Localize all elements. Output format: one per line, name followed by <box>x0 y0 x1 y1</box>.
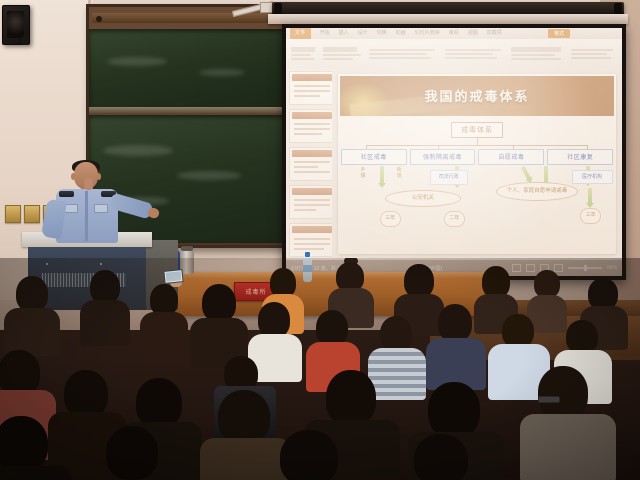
slide-thumbnail[interactable] <box>289 71 335 105</box>
audience <box>0 258 640 480</box>
diagram-ellipse-public-security: 公安机关 <box>385 190 461 207</box>
slide-thumbnail[interactable] <box>289 185 335 219</box>
chalkboard-ledge <box>89 107 287 113</box>
slide-thumbnail[interactable] <box>289 147 335 181</box>
arrow-down-icon <box>380 166 384 184</box>
tab-design[interactable]: 设计 <box>358 29 368 38</box>
speaker-police-officer <box>44 160 164 250</box>
tab-insert[interactable]: 插入 <box>339 29 349 38</box>
powerpoint-window: 文件 开始 插入 设计 切换 动画 幻灯片放映 审阅 视图 加载项 格式 <box>286 28 622 276</box>
current-slide[interactable]: 我国的戒毒体系 戒毒体系 社区戒毒 强制隔离戒毒 自愿戒毒 社区康复 <box>338 74 616 254</box>
diagram-root-node: 戒毒体系 <box>451 122 503 138</box>
uniform-badge-icon <box>94 204 108 213</box>
diagram-node-community-recovery: 社区康复 <box>547 149 613 165</box>
screen-top-bar <box>268 14 628 24</box>
powerpoint-ribbon: 文件 开始 插入 设计 切换 动画 幻灯片放映 审阅 视图 加载项 格式 <box>286 28 622 69</box>
tab-addins[interactable]: 加载项 <box>487 29 502 38</box>
diagram-node-community-rehab: 社区戒毒 <box>341 149 407 165</box>
diagram-node-compulsory-isolation-rehab: 强制隔离戒毒 <box>410 149 476 165</box>
tab-view[interactable]: 视图 <box>468 29 478 38</box>
officer-right-hand <box>147 207 160 220</box>
slide-title: 我国的戒毒体系 <box>424 86 529 105</box>
slide-editing-stage[interactable]: 我国的戒毒体系 戒毒体系 社区戒毒 强制隔离戒毒 自愿戒毒 社区康复 <box>332 68 622 260</box>
tab-format[interactable]: 格式 <box>548 29 570 38</box>
diagram-leaf-two-years: 二年 <box>444 211 465 227</box>
diagram-node-medical: 医疗机构 <box>572 170 613 184</box>
epaulette-icon <box>59 191 74 197</box>
arrow-diagonal-icon <box>521 166 531 180</box>
projection-screen: 文件 开始 插入 设计 切换 动画 幻灯片放映 审阅 视图 加载项 格式 <box>282 24 626 280</box>
tab-animations[interactable]: 动画 <box>396 29 406 38</box>
diagram-node-voluntary-rehab: 自愿戒毒 <box>478 149 544 165</box>
eyeglasses-icon <box>538 396 560 403</box>
smartphone-icon <box>163 269 183 284</box>
lecture-hall-photo: 文件 开始 插入 设计 切换 动画 幻灯片放映 审阅 视图 加载项 格式 <box>0 0 640 480</box>
slide-thumbnail[interactable] <box>289 109 335 143</box>
diagram-vlabel-street: 街道 <box>396 167 402 179</box>
slide-thumbnail-active[interactable] <box>289 223 335 257</box>
arrow-down-icon <box>544 166 548 184</box>
officer-left-hand <box>84 178 93 190</box>
tab-home[interactable]: 开始 <box>320 29 330 38</box>
ribbon-tab-strip[interactable]: 文件 开始 插入 设计 切换 动画 幻灯片放映 审阅 视图 加载项 格式 <box>286 28 622 39</box>
diagram-leaf-three-years: 三年 <box>380 211 401 227</box>
speaker-mount <box>22 36 29 45</box>
ribbon-commands[interactable] <box>286 39 622 68</box>
diagram-node-judicial: 司法行政 <box>430 170 468 185</box>
tab-review[interactable]: 审阅 <box>449 29 459 38</box>
diagram-leaf-three-years-2: 三年 <box>580 208 601 224</box>
diagram-level2-row: 社区戒毒 强制隔离戒毒 自愿戒毒 社区康复 <box>341 149 613 165</box>
tab-transitions[interactable]: 切换 <box>377 29 387 38</box>
slide-title-banner: 我国的戒毒体系 <box>340 76 614 116</box>
tab-file[interactable]: 文件 <box>290 28 311 39</box>
diagram-ellipse-voluntary-application: 个人、家庭自愿申请戒毒 <box>496 182 577 201</box>
arrow-down-icon <box>588 188 592 204</box>
tab-slideshow[interactable]: 幻灯片放映 <box>415 29 440 38</box>
chalkboard-panel-top <box>89 29 287 109</box>
diagram-vlabel-township: 乡镇 <box>360 167 366 179</box>
